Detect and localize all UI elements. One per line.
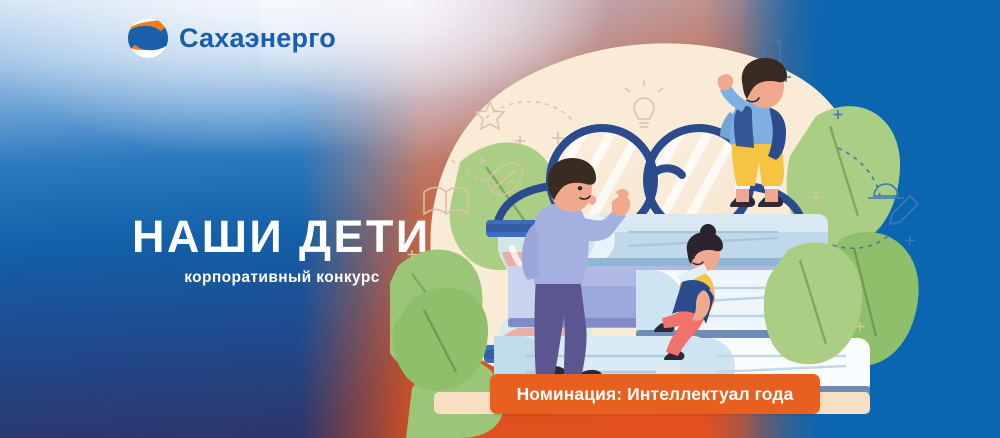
headline-title: НАШИ ДЕТИ bbox=[132, 214, 432, 259]
nomination-label: Номинация: Интеллектуал года bbox=[517, 384, 794, 405]
promo-banner: Сахаэнерго НАШИ ДЕТИ корпоративный конку… bbox=[0, 0, 1000, 438]
illustration-svg bbox=[390, 0, 930, 438]
globe-ribbon-logo-icon bbox=[126, 16, 170, 60]
brand-logo[interactable]: Сахаэнерго bbox=[126, 16, 336, 60]
brand-name: Сахаэнерго bbox=[179, 23, 336, 54]
illustration bbox=[390, 0, 930, 438]
headline-block: НАШИ ДЕТИ корпоративный конкурс bbox=[132, 214, 432, 287]
headline-subtitle: корпоративный конкурс bbox=[132, 269, 432, 287]
nomination-badge[interactable]: Номинация: Интеллектуал года bbox=[490, 374, 820, 414]
